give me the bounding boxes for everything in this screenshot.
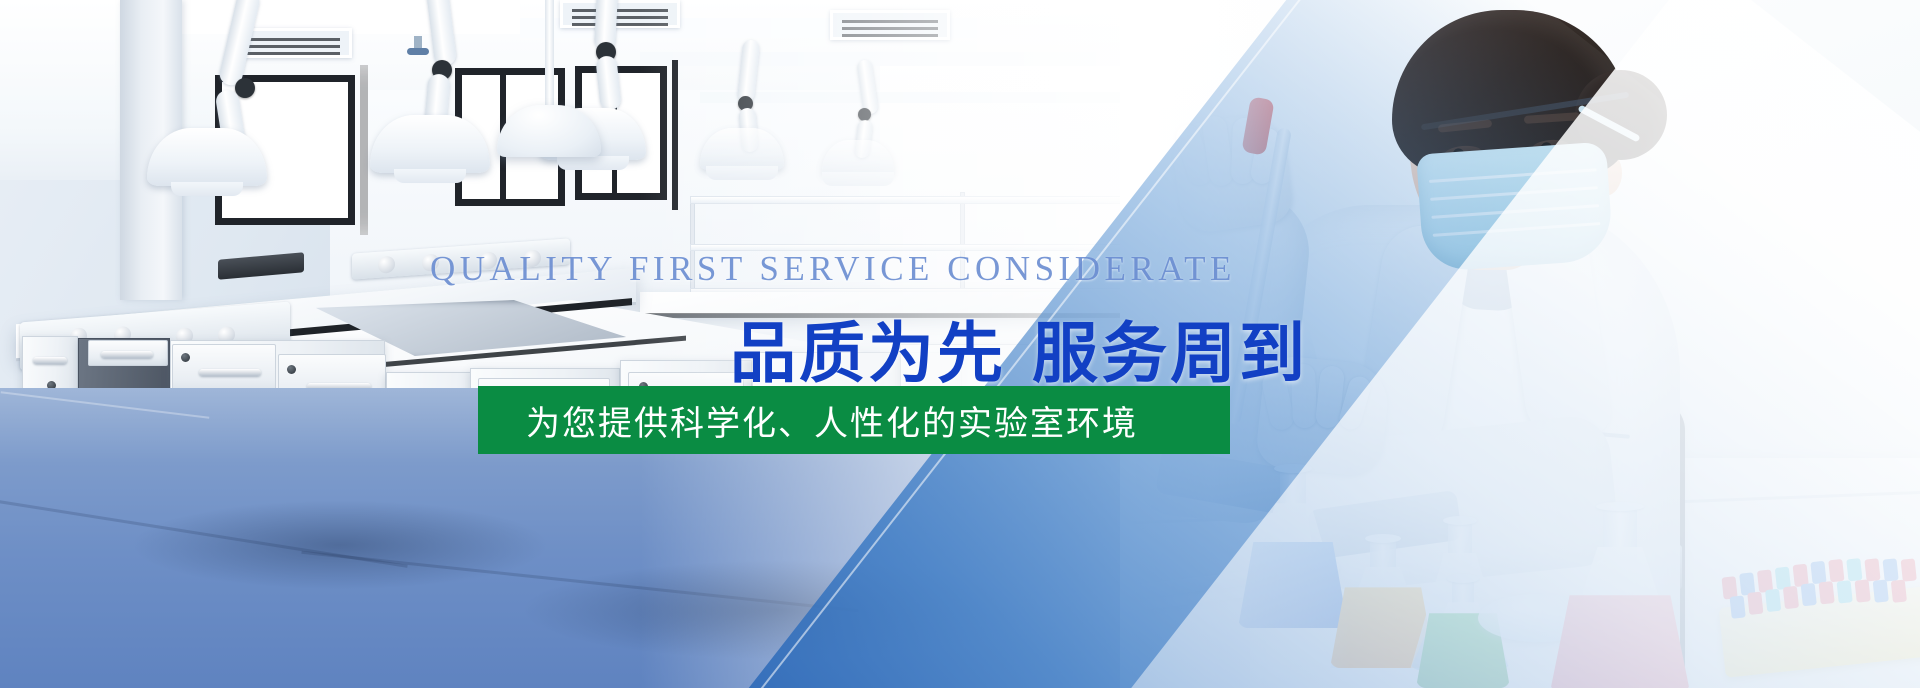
headline: 品质为先服务周到 xyxy=(730,300,1308,396)
english-tagline: QUALITY FIRST SERVICE CONSIDERATE xyxy=(430,249,1236,289)
subtitle-text: 为您提供科学化、人性化的实验室环境 xyxy=(478,396,1138,445)
banner-text-block: QUALITY FIRST SERVICE CONSIDERATE 品质为先服务… xyxy=(0,0,1920,688)
headline-right: 服务周到 xyxy=(1032,316,1308,390)
headline-left: 品质为先 xyxy=(730,316,1006,390)
subtitle-green-bar: 为您提供科学化、人性化的实验室环境 xyxy=(478,386,1230,454)
hero-banner: QUALITY FIRST SERVICE CONSIDERATE 品质为先服务… xyxy=(0,0,1920,688)
